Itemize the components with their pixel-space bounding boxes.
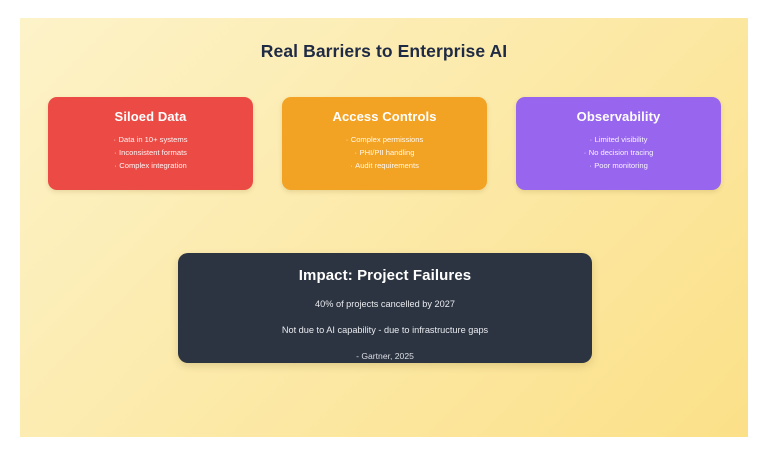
barrier-card-title: Observability <box>577 109 661 124</box>
barrier-card-title: Access Controls <box>332 109 436 124</box>
barrier-card-bullet-list: ·Complex permissions ·PHI/PII handling ·… <box>292 133 477 173</box>
impact-detail-line: Not due to AI capability - due to infras… <box>194 324 576 337</box>
barrier-card-bullet: ·Poor monitoring <box>526 159 711 172</box>
barrier-card-title: Siloed Data <box>115 109 187 124</box>
barrier-card-bullet-text: Poor monitoring <box>594 161 648 170</box>
bullet-dot-icon: · <box>355 146 358 159</box>
bullet-dot-icon: · <box>589 159 592 172</box>
barrier-card-bullet: ·Audit requirements <box>292 159 477 172</box>
barrier-card-bullet-text: Limited visibility <box>595 135 648 144</box>
bullet-dot-icon: · <box>590 133 593 146</box>
impact-panel-title: Impact: Project Failures <box>194 267 576 284</box>
barrier-card-access-controls[interactable]: Access Controls ·Complex permissions ·PH… <box>282 97 487 190</box>
barrier-card-bullet: ·Complex integration <box>58 159 243 172</box>
barrier-card-bullet: ·Limited visibility <box>526 133 711 146</box>
barrier-card-bullet-text: No decision tracing <box>589 148 654 157</box>
barrier-card-bullet: ·Inconsistent formats <box>58 146 243 159</box>
bullet-dot-icon: · <box>584 146 587 159</box>
bullet-dot-icon: · <box>113 133 116 146</box>
slide-canvas: Real Barriers to Enterprise AI Siloed Da… <box>20 18 748 437</box>
bullet-dot-icon: · <box>114 159 117 172</box>
barrier-card-bullet: ·PHI/PII handling <box>292 146 477 159</box>
barrier-card-bullet-text: Complex integration <box>119 161 187 170</box>
impact-stat-line: 40% of projects cancelled by 2027 <box>194 298 576 311</box>
barrier-card-bullet: ·Data in 10+ systems <box>58 133 243 146</box>
barrier-card-bullet-list: ·Data in 10+ systems ·Inconsistent forma… <box>58 133 243 173</box>
barrier-card-bullet: ·No decision tracing <box>526 146 711 159</box>
barrier-card-bullet-text: Audit requirements <box>355 161 419 170</box>
barrier-card-bullet-text: PHI/PII handling <box>360 148 415 157</box>
barrier-card-bullet: ·Complex permissions <box>292 133 477 146</box>
bullet-dot-icon: · <box>346 133 349 146</box>
impact-source-citation: - Gartner, 2025 <box>194 350 576 362</box>
barrier-card-bullet-text: Inconsistent formats <box>119 148 187 157</box>
barrier-cards-row: Siloed Data ·Data in 10+ systems ·Incons… <box>48 97 721 190</box>
impact-panel: Impact: Project Failures 40% of projects… <box>178 253 592 363</box>
barrier-card-observability[interactable]: Observability ·Limited visibility ·No de… <box>516 97 721 190</box>
barrier-card-siloed-data[interactable]: Siloed Data ·Data in 10+ systems ·Incons… <box>48 97 253 190</box>
barrier-card-bullet-text: Complex permissions <box>351 135 424 144</box>
page-title: Real Barriers to Enterprise AI <box>20 41 748 62</box>
barrier-card-bullet-text: Data in 10+ systems <box>119 135 188 144</box>
bullet-dot-icon: · <box>350 159 353 172</box>
bullet-dot-icon: · <box>114 146 117 159</box>
barrier-card-bullet-list: ·Limited visibility ·No decision tracing… <box>526 133 711 173</box>
